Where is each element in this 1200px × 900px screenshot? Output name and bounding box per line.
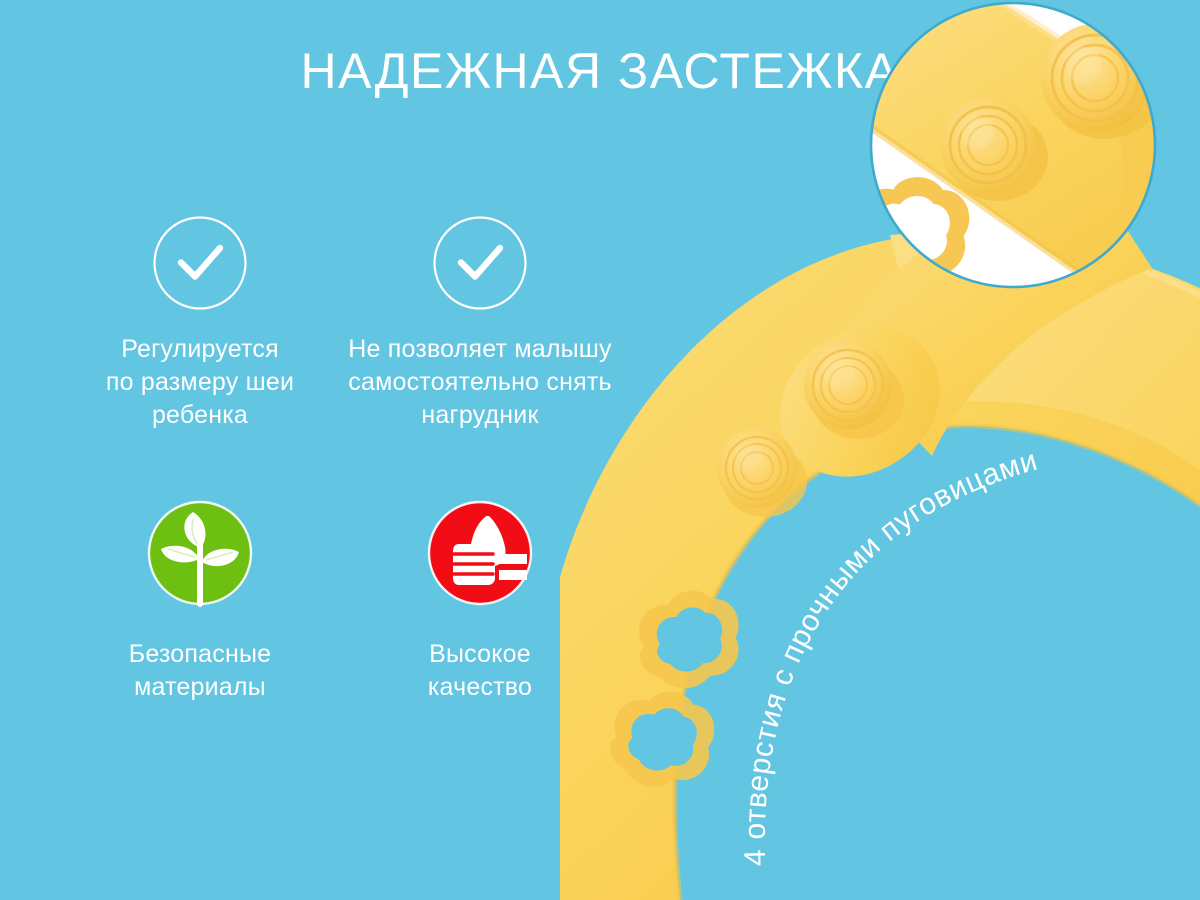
- check-circle-icon: [152, 215, 248, 311]
- feature-label: Регулируется по размеру шеи ребенка: [60, 333, 340, 432]
- feature-label: Не позволяет малышу самостоятельно снять…: [340, 333, 620, 432]
- feature-item-high-quality: Высокое качество: [340, 500, 620, 704]
- feature-label-line: Высокое: [340, 638, 620, 671]
- plant-sprout-icon: [147, 500, 253, 606]
- thumbs-up-icon: [427, 500, 533, 606]
- feature-label-line: качество: [340, 671, 620, 704]
- feature-item-secure: Не позволяет малышу самостоятельно снять…: [340, 215, 620, 432]
- feature-label-line: самостоятельно снять: [340, 366, 620, 399]
- feature-label: Высокое качество: [340, 638, 620, 704]
- feature-label-line: по размеру шеи: [60, 366, 340, 399]
- feature-label-line: материалы: [60, 671, 340, 704]
- feature-item-adjustable: Регулируется по размеру шеи ребенка: [60, 215, 340, 432]
- feature-label: Безопасные материалы: [60, 638, 340, 704]
- feature-label-line: нагрудник: [340, 399, 620, 432]
- feature-item-safe-materials: Безопасные материалы: [60, 500, 340, 704]
- product-photo: [560, 0, 1200, 900]
- feature-label-line: Безопасные: [60, 638, 340, 671]
- feature-list: Регулируется по размеру шеи ребенка Не п…: [60, 215, 620, 775]
- check-circle-icon: [432, 215, 528, 311]
- feature-label-line: Не позволяет малышу: [340, 333, 620, 366]
- infographic-poster: НАДЕЖНАЯ ЗАСТЕЖКА: [0, 0, 1200, 900]
- feature-label-line: ребенка: [60, 399, 340, 432]
- feature-label-line: Регулируется: [60, 333, 340, 366]
